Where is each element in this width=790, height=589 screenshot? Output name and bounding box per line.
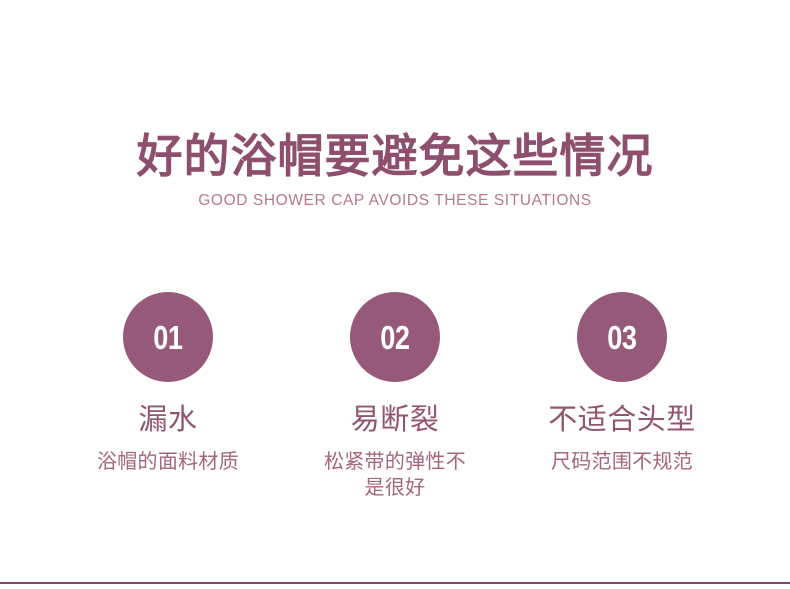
feature-card: 03 不适合头型 尺码范围不规范 xyxy=(509,292,735,475)
feature-cards-row: 01 漏水 浴帽的面料材质 02 易断裂 松紧带的弹性不是很好 03 不适合头型… xyxy=(55,292,735,501)
feature-card-title: 易断裂 xyxy=(351,403,440,437)
step-badge-circle: 03 xyxy=(577,292,667,382)
page-title: 好的浴帽要避免这些情况 xyxy=(0,128,790,184)
feature-card: 02 易断裂 松紧带的弹性不是很好 xyxy=(282,292,508,501)
promo-banner: 好的浴帽要避免这些情况 GOOD SHOWER CAP AVOIDS THESE… xyxy=(0,0,790,589)
footer-divider xyxy=(0,582,790,584)
step-number: 03 xyxy=(607,321,636,354)
step-badge-circle: 02 xyxy=(350,292,440,382)
step-badge-circle: 01 xyxy=(123,292,213,382)
feature-card-description: 浴帽的面料材质 xyxy=(97,449,239,475)
feature-card: 01 漏水 浴帽的面料材质 xyxy=(55,292,281,475)
step-number: 02 xyxy=(380,321,409,354)
header-block: 好的浴帽要避免这些情况 GOOD SHOWER CAP AVOIDS THESE… xyxy=(0,128,790,211)
page-subtitle: GOOD SHOWER CAP AVOIDS THESE SITUATIONS xyxy=(0,191,790,211)
feature-card-description: 尺码范围不规范 xyxy=(551,449,693,475)
feature-card-description: 松紧带的弹性不是很好 xyxy=(319,449,471,501)
feature-card-title: 不适合头型 xyxy=(548,403,696,437)
feature-card-title: 漏水 xyxy=(138,403,197,437)
step-number: 01 xyxy=(153,321,182,354)
